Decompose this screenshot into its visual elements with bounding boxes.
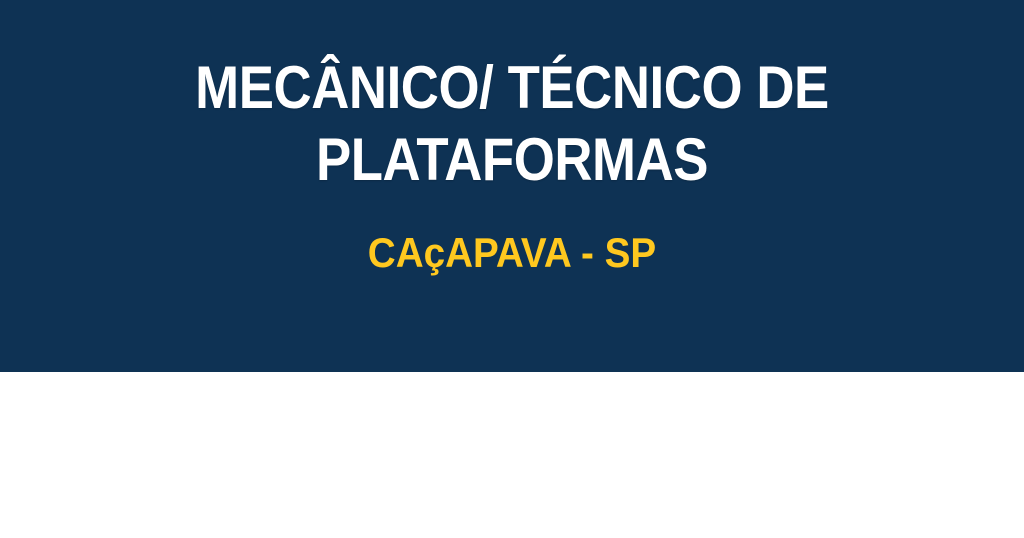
job-vacancy-poster: MECÂNICO/ TÉCNICO DE PLATAFORMAS CAçAPAV… <box>0 0 1024 538</box>
header-band: MECÂNICO/ TÉCNICO DE PLATAFORMAS CAçAPAV… <box>0 0 1024 372</box>
footer-band: CANDIDATAR-SE e <box>0 372 1024 538</box>
page-title: MECÂNICO/ TÉCNICO DE PLATAFORMAS <box>61 52 962 196</box>
job-location: CAçAPAVA - SP <box>41 228 983 278</box>
